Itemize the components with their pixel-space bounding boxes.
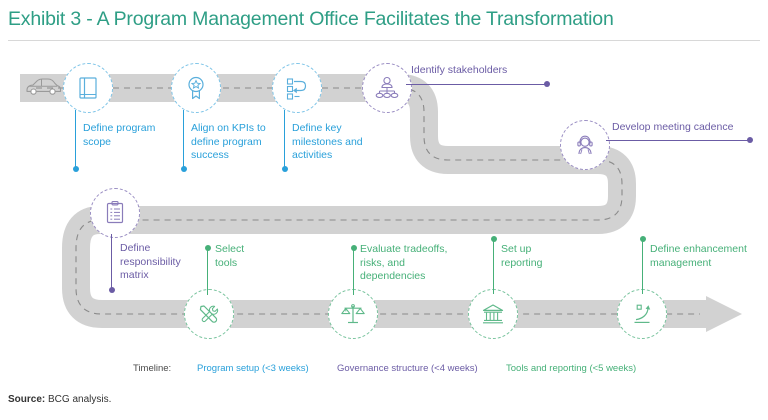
leader-define-program-scope	[74, 110, 82, 172]
leader-select-tools	[206, 245, 214, 295]
node-define-enhancement-management[interactable]	[617, 289, 667, 339]
institution-icon	[481, 302, 505, 326]
leader-define-enhancement-management	[641, 236, 649, 294]
label-define-program-scope: Define program scope	[83, 122, 181, 149]
book-icon	[77, 76, 99, 100]
leader-define-responsibility-matrix	[110, 234, 118, 294]
clipboard-icon	[104, 200, 126, 226]
leader-identify-stakeholders	[406, 80, 556, 90]
checklist-flow-icon	[285, 76, 309, 100]
label-align-on-kpis: Align on KPIs to define program success	[191, 122, 291, 163]
label-identify-stakeholders: Identify stakeholders	[411, 64, 581, 78]
label-set-up-reporting: Set up reporting	[501, 243, 591, 270]
node-identify-stakeholders[interactable]	[362, 63, 412, 113]
award-ribbon-icon	[185, 75, 207, 101]
timeline-phase-governance-structure: Governance structure (<4 weeks)	[337, 363, 478, 374]
exhibit-canvas: Exhibit 3 - A Program Management Office …	[0, 0, 768, 420]
label-define-enhancement-management: Define enhancement management	[650, 243, 768, 270]
tools-icon	[197, 302, 221, 326]
node-align-on-kpis[interactable]	[171, 63, 221, 113]
node-develop-meeting-cadence[interactable]	[560, 120, 610, 170]
node-evaluate-tradeoffs[interactable]	[328, 289, 378, 339]
stakeholder-network-icon	[374, 76, 400, 100]
leader-define-key-milestones	[283, 110, 291, 172]
label-define-key-milestones: Define key milestones and activities	[292, 122, 392, 163]
label-evaluate-tradeoffs: Evaluate tradeoffs, risks, and dependenc…	[360, 243, 470, 284]
source-text: BCG analysis.	[45, 394, 111, 405]
timeline-legend: Timeline: Program setup (<3 weeks) Gover…	[0, 363, 768, 379]
node-set-up-reporting[interactable]	[468, 289, 518, 339]
leader-develop-meeting-cadence	[606, 136, 758, 146]
node-define-responsibility-matrix[interactable]	[90, 188, 140, 238]
source-note: Source: BCG analysis.	[8, 394, 111, 405]
node-define-key-milestones[interactable]	[272, 63, 322, 113]
timeline-label: Timeline:	[133, 363, 171, 374]
node-define-program-scope[interactable]	[63, 63, 113, 113]
timeline-phase-program-setup: Program setup (<3 weeks)	[197, 363, 309, 374]
label-develop-meeting-cadence: Develop meeting cadence	[612, 121, 768, 135]
arrow-right-icon	[706, 296, 742, 332]
leader-set-up-reporting	[492, 236, 500, 294]
scales-icon	[340, 302, 366, 326]
growth-curve-icon	[630, 302, 654, 326]
label-define-responsibility-matrix: Define responsibility matrix	[120, 242, 212, 283]
leader-align-on-kpis	[182, 110, 190, 172]
leader-evaluate-tradeoffs	[352, 245, 360, 295]
headset-person-icon	[573, 133, 597, 157]
node-select-tools[interactable]	[184, 289, 234, 339]
source-label: Source:	[8, 394, 45, 405]
label-select-tools: Select tools	[215, 243, 305, 270]
timeline-phase-tools-and-reporting: Tools and reporting (<5 weeks)	[506, 363, 636, 374]
